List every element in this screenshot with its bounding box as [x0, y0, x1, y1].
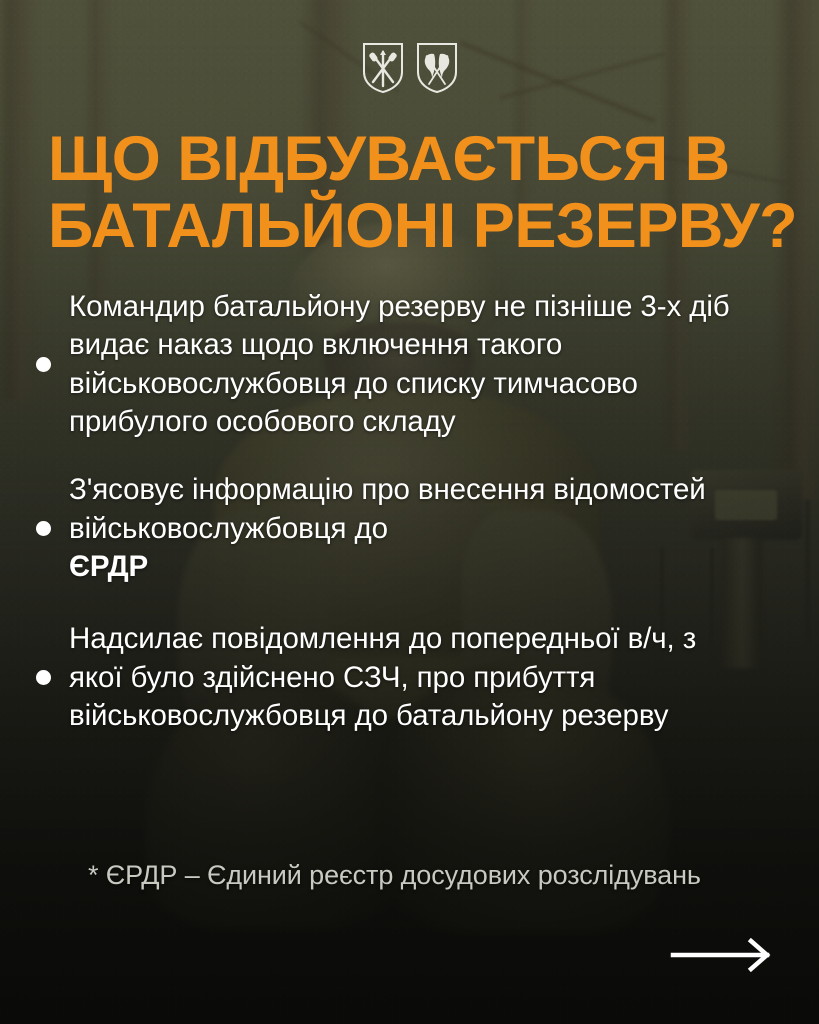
page-title-line-2: БАТАЛЬЙОНІ РЕЗЕРВУ? [48, 193, 768, 260]
bullet-dot-icon [36, 357, 51, 372]
bullet-text: З'ясовує інформацію про внесення відомос… [69, 471, 736, 586]
arrow-right-icon[interactable] [669, 938, 777, 977]
list-item: Надсилає повідомлення до попередньої в/ч… [36, 620, 756, 735]
poster-content: ЩО ВІДБУВАЄТЬСЯ В БАТАЛЬЙОНІ РЕЗЕРВУ? Ко… [0, 0, 819, 1024]
two-eagles-shield-emblem [416, 42, 458, 99]
poster-slide: ЩО ВІДБУВАЄТЬСЯ В БАТАЛЬЙОНІ РЕЗЕРВУ? Ко… [0, 0, 819, 1024]
bullet-list: Командир батальйону резерву не пізніше 3… [36, 288, 786, 765]
bullet-text-emphasis: ЄРДР [69, 548, 736, 586]
bullet-dot-icon [36, 670, 51, 685]
emblem-row [0, 42, 819, 99]
page-title: ЩО ВІДБУВАЄТЬСЯ В БАТАЛЬЙОНІ РЕЗЕРВУ? [48, 126, 768, 261]
bullet-text-main: З'ясовує інформацію про внесення відомос… [69, 473, 706, 544]
bullet-text-main: Надсилає повідомлення до попередньої в/ч… [69, 622, 696, 732]
footnote: * ЄРДР – Єдиний реєстр досудових розслід… [88, 858, 728, 894]
bullet-text-main: Командир батальйону резерву не пізніше 3… [69, 290, 730, 438]
bullet-text: Командир батальйону резерву не пізніше 3… [69, 288, 776, 441]
bullet-text: Надсилає повідомлення до попередньої в/ч… [69, 620, 756, 735]
crossed-swords-shield-emblem [362, 42, 404, 99]
bullet-dot-icon [36, 521, 51, 536]
page-title-line-1: ЩО ВІДБУВАЄТЬСЯ В [48, 126, 768, 193]
list-item: З'ясовує інформацію про внесення відомос… [36, 471, 736, 586]
list-item: Командир батальйону резерву не пізніше 3… [36, 288, 776, 441]
